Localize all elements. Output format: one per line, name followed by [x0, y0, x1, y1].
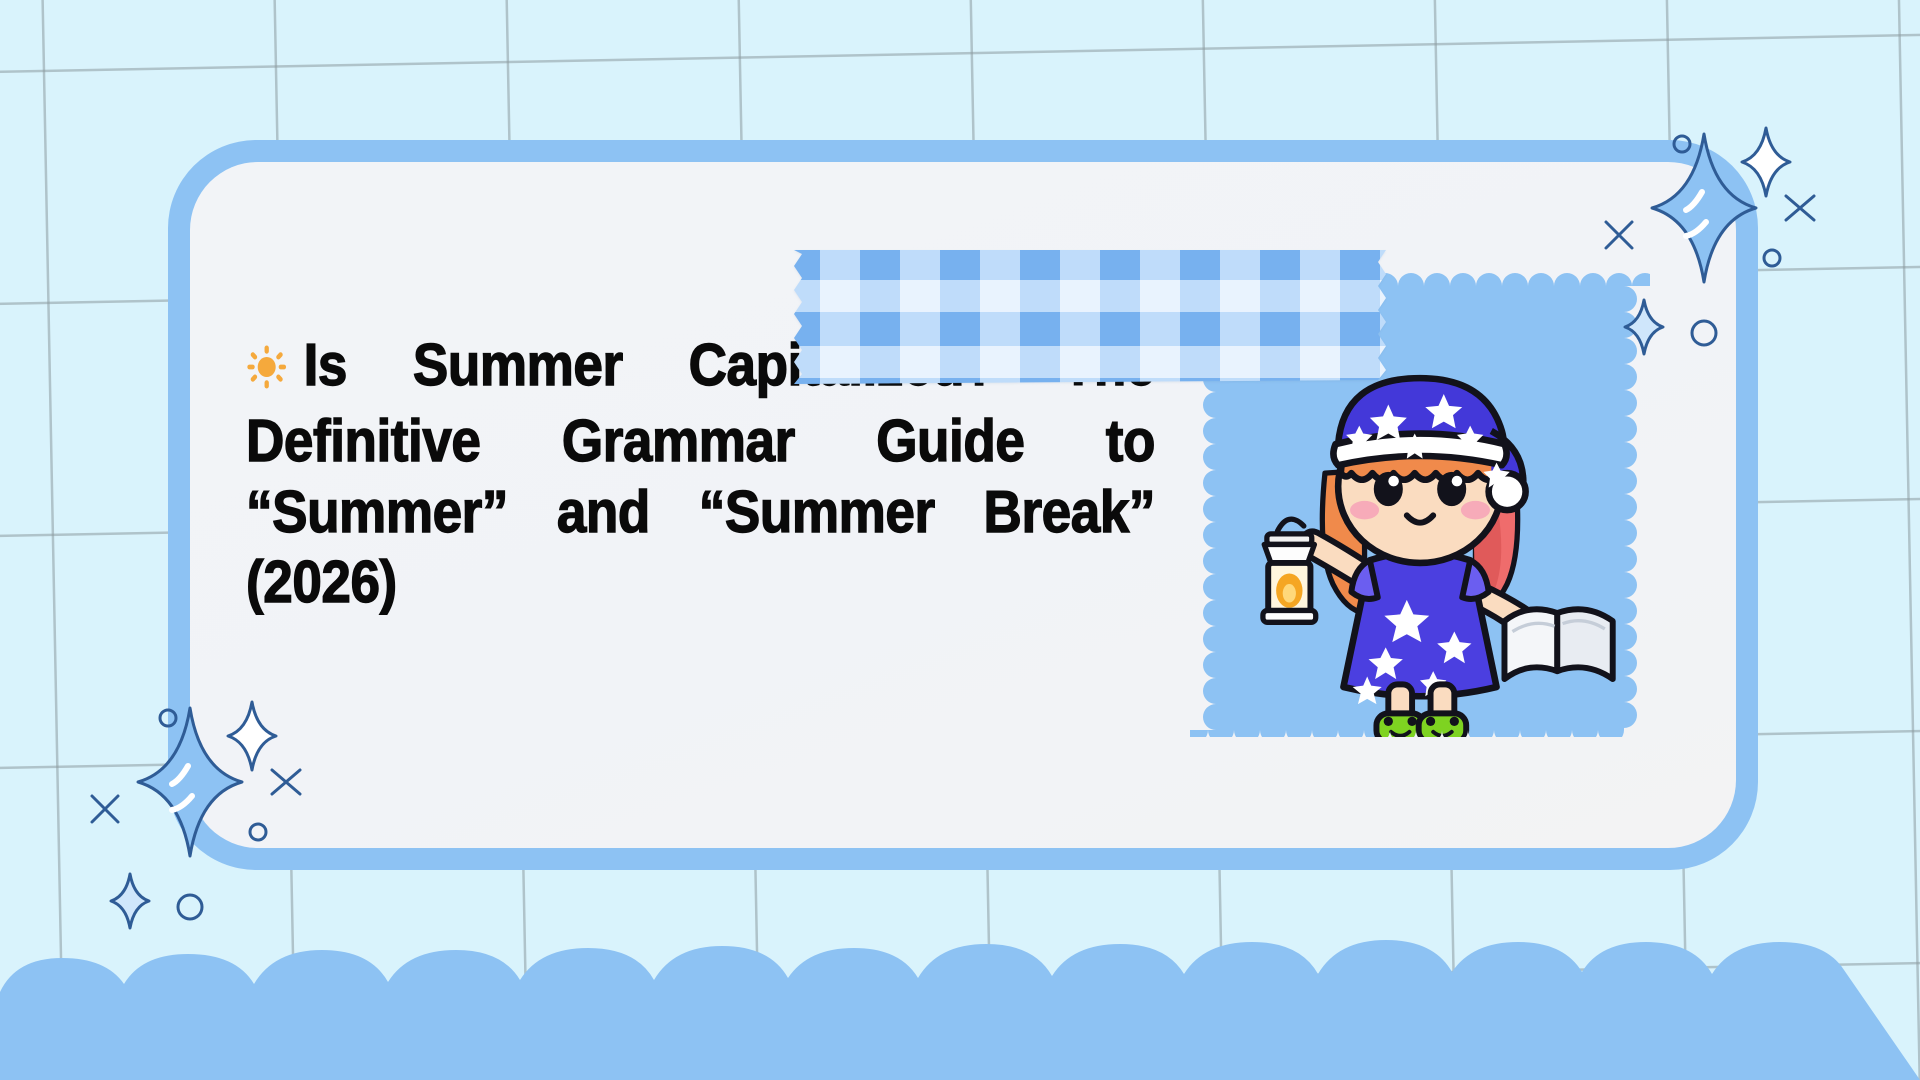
tiny-four-point-star	[111, 874, 149, 928]
title-card-canvas: Is Summer Capitalized? The Definitive Gr…	[0, 0, 1920, 1080]
plus-mark-right	[1786, 196, 1814, 220]
small-four-point-star	[1742, 128, 1790, 196]
sun-icon	[246, 335, 287, 406]
main-card: Is Summer Capitalized? The Definitive Gr…	[168, 140, 1758, 870]
circle-outline-large	[178, 895, 202, 919]
plus-mark-left	[92, 796, 118, 822]
washi-tape	[780, 246, 1400, 388]
circle-outline-small-2	[1764, 250, 1780, 266]
bottom-scalloped-wave	[0, 920, 1920, 1080]
